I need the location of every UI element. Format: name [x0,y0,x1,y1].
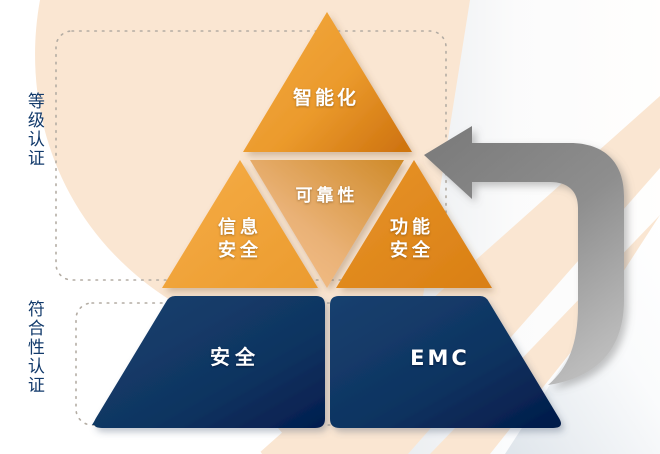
block-intelligent[interactable] [243,12,412,152]
block-label-reliability: 可靠性 [252,186,402,208]
category-label-compliance: 符合性认证 [24,300,42,395]
pyramid-shapes [0,0,660,454]
category-label-grade: 等级认证 [24,92,42,168]
block-label-intelligent: 智能化 [246,86,406,110]
block-label-safety: 安全 [155,345,315,371]
block-label-emc: EMC [345,345,535,372]
block-label-functional-safety: 功能 安全 [362,216,462,262]
diagram-canvas: 等级认证 符合性认证 智能化 可靠性 信息 安全 功能 安全 安全 EMC [0,0,660,454]
block-label-info-security: 信息 安全 [190,216,290,262]
